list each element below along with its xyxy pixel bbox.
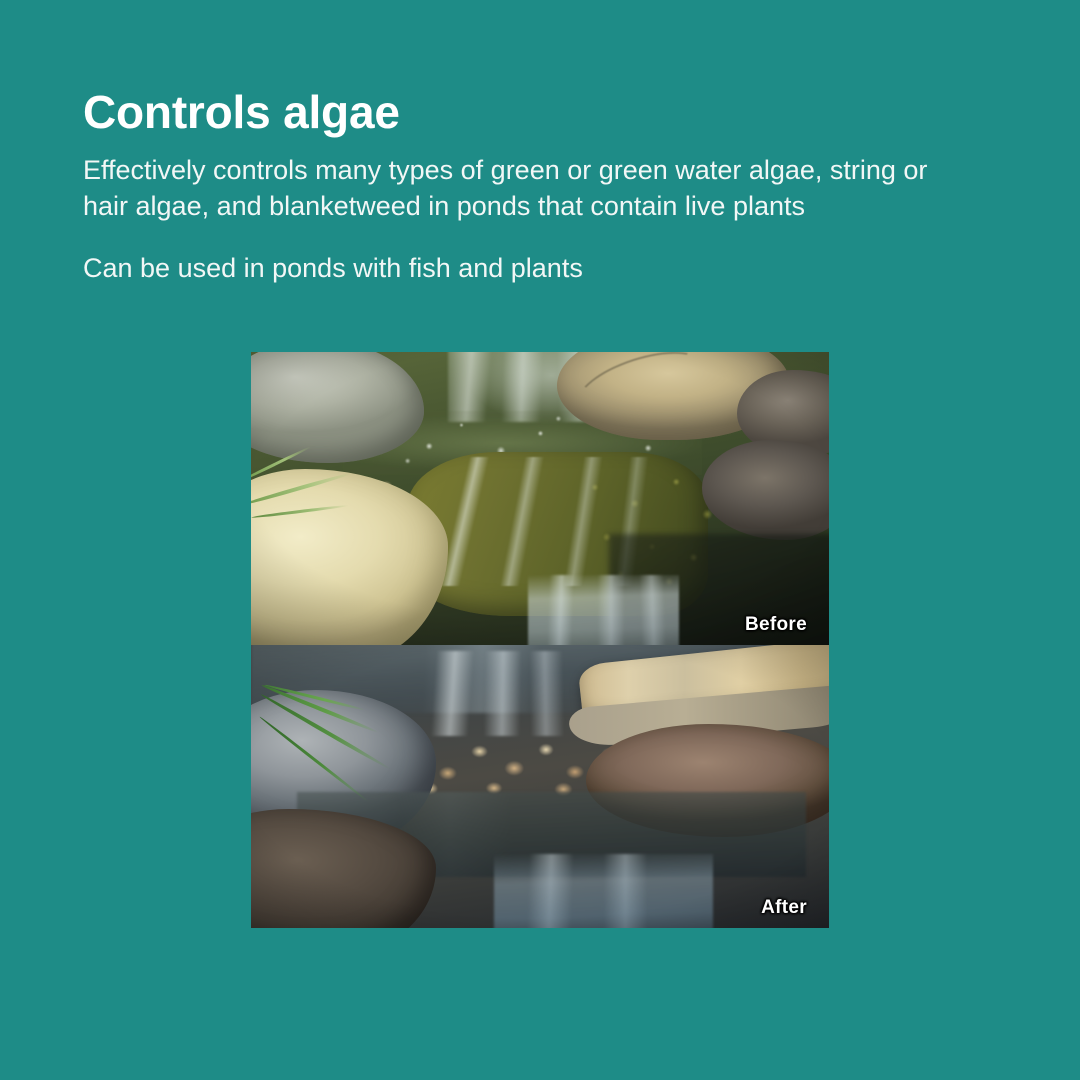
after-photo: After bbox=[251, 645, 829, 928]
feature-description-secondary: Can be used in ponds with fish and plant… bbox=[83, 250, 943, 286]
text-content-block: Controls algae Effectively controls many… bbox=[83, 84, 1003, 286]
before-label: Before bbox=[745, 614, 807, 636]
feature-description-primary: Effectively controls many types of green… bbox=[83, 152, 943, 224]
product-feature-slide: Controls algae Effectively controls many… bbox=[0, 0, 1080, 1080]
page-title: Controls algae bbox=[83, 84, 1003, 140]
before-after-comparison-image: Before After bbox=[251, 352, 829, 928]
after-photo-base bbox=[251, 645, 829, 928]
before-photo: Before bbox=[251, 352, 829, 645]
after-label: After bbox=[761, 897, 807, 919]
before-photo-base bbox=[251, 352, 829, 645]
